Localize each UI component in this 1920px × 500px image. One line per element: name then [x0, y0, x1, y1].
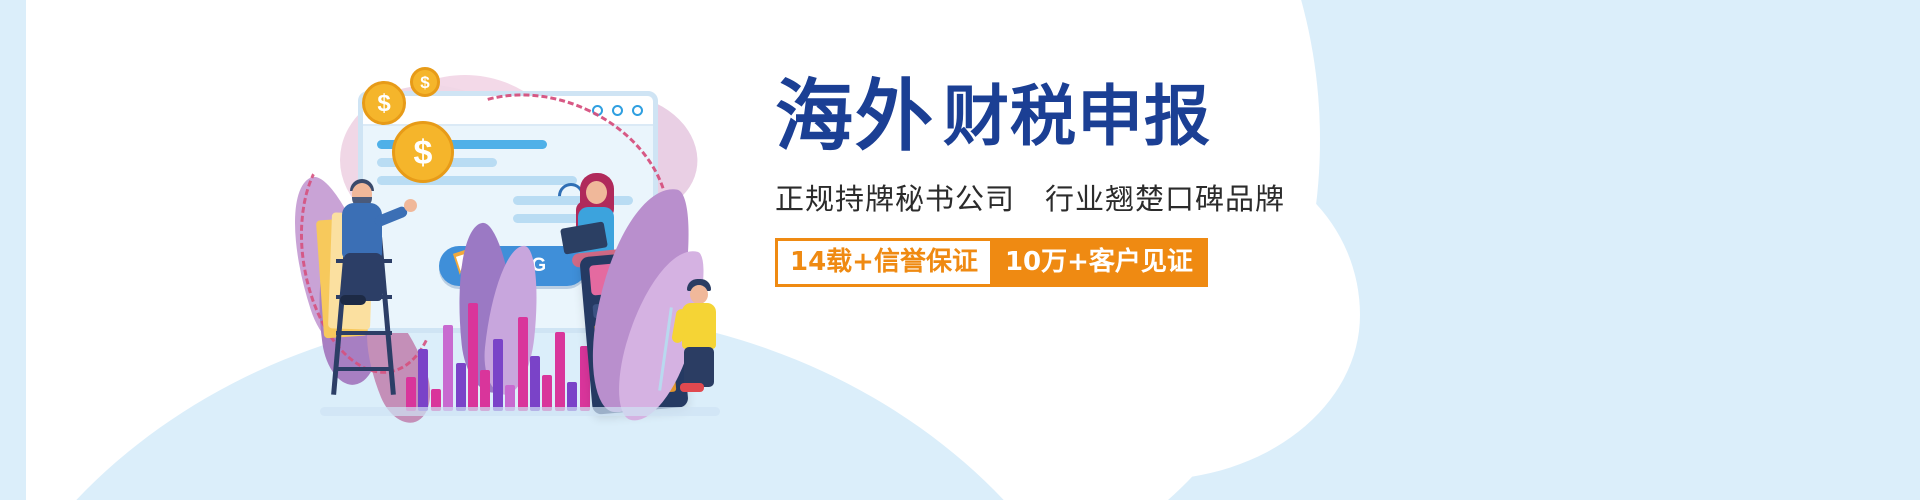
person-head	[690, 285, 708, 304]
headline-part-a: 海外	[775, 72, 935, 162]
background-edge-left	[0, 0, 26, 500]
chart-bar	[406, 377, 416, 411]
banner-headline: 海外财税申报	[775, 78, 1535, 156]
chart-bar	[480, 370, 490, 411]
man-body	[342, 203, 382, 259]
coin-icon: $	[392, 121, 454, 183]
promo-banner: FILING $ $ $	[0, 0, 1920, 500]
chart-bar	[493, 339, 503, 411]
headline-part-b: 财税申报	[943, 78, 1211, 155]
person-shoe	[680, 383, 704, 392]
man-hand	[404, 199, 417, 212]
chart-bar	[555, 332, 565, 411]
chart-bar	[542, 375, 552, 411]
ladder-rung	[336, 367, 392, 371]
illustration: FILING $ $ $	[300, 55, 760, 455]
bar-chart-illustration	[406, 299, 594, 411]
ground-shadow	[320, 407, 720, 416]
chart-bar	[468, 303, 478, 411]
chart-bar	[443, 325, 453, 411]
circle-icon	[632, 105, 643, 116]
ladder-rung	[336, 331, 392, 335]
badge-experience: 14载+信誉保证	[775, 238, 990, 287]
coin-icon: $	[410, 67, 440, 97]
coin-icon: $	[362, 81, 406, 125]
badge-clients: 10万+客户见证	[990, 238, 1208, 287]
chart-bar	[518, 317, 528, 411]
chart-bar	[530, 356, 540, 411]
person-legs	[684, 347, 714, 387]
man-shoe	[340, 295, 366, 305]
banner-badges: 14载+信誉保证 10万+客户见证	[775, 238, 1535, 287]
banner-subtitle: 正规持牌秘书公司 行业翘楚口碑品牌	[775, 176, 1535, 218]
man-legs	[344, 253, 382, 301]
woman-head	[586, 181, 607, 204]
person-body	[682, 303, 716, 349]
chart-bar	[418, 349, 428, 411]
circle-icon	[612, 105, 623, 116]
banner-text-block: 海外财税申报 正规持牌秘书公司 行业翘楚口碑品牌 14载+信誉保证 10万+客户…	[775, 78, 1535, 287]
chart-bar	[456, 363, 466, 411]
